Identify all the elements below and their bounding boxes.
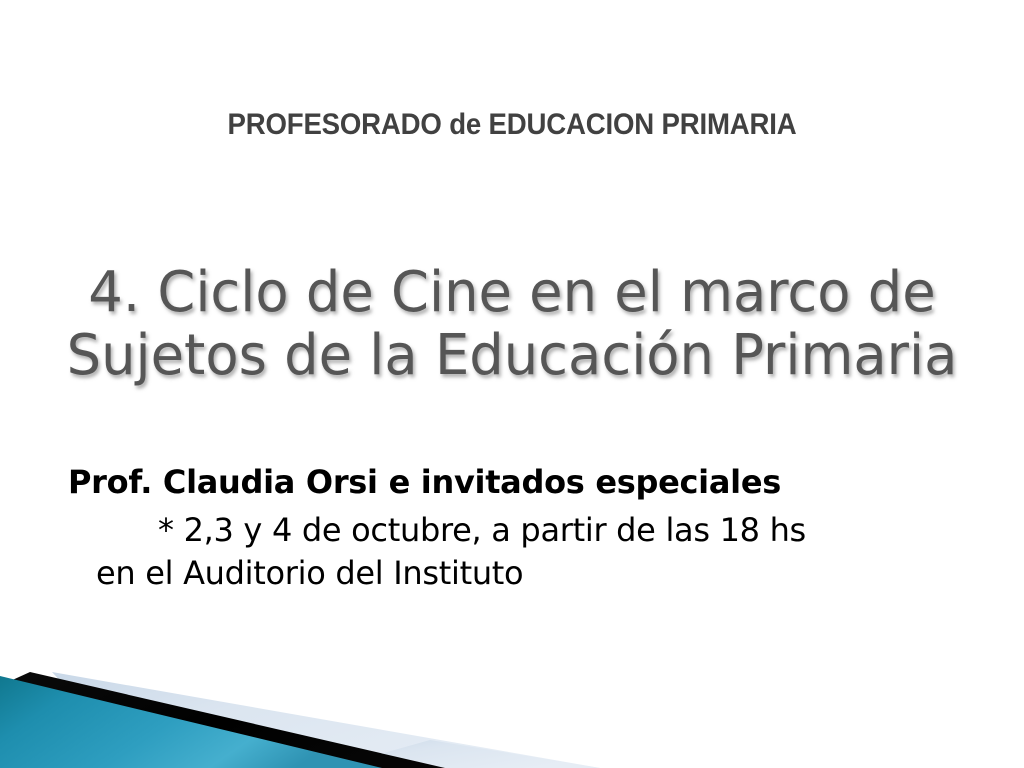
- slide-header-text: PROFESORADO de EDUCACION PRIMARIA: [41, 108, 983, 142]
- decoration-pale-triangle: [52, 672, 600, 768]
- corner-decoration-svg: [0, 628, 1024, 768]
- decoration-pale-triangle-tail: [330, 740, 600, 768]
- decoration-black-stripe: [8, 672, 445, 768]
- body-line-location: en el Auditorio del Instituto: [68, 553, 968, 595]
- decoration-teal-triangle: [0, 676, 382, 768]
- slide-body: Prof. Claudia Orsi e invitados especiale…: [68, 462, 968, 595]
- page-title-line-1: 4. Ciclo de Cine en el marco de: [15, 262, 1008, 325]
- page-title-line-2: Sujetos de la Educación Primaria: [15, 325, 1008, 388]
- body-line-dates: * 2,3 y 4 de octubre, a partir de las 18…: [68, 510, 968, 552]
- corner-decoration: [0, 628, 1024, 768]
- page-title: 4. Ciclo de Cine en el marco de Sujetos …: [0, 262, 1024, 387]
- slide-canvas: PROFESORADO de EDUCACION PRIMARIA 4. Cic…: [0, 0, 1024, 768]
- body-line-presenter: Prof. Claudia Orsi e invitados especiale…: [68, 462, 968, 504]
